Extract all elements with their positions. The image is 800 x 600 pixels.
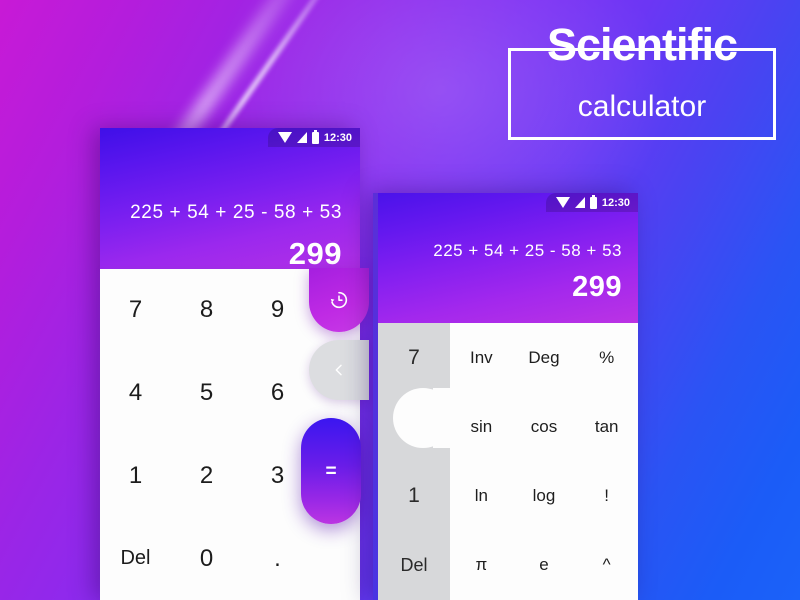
key-4[interactable]: 4	[100, 352, 171, 435]
signal-icon	[575, 197, 585, 208]
wifi-icon	[278, 132, 292, 143]
status-time: 12:30	[324, 132, 352, 144]
key-0[interactable]: 0	[171, 517, 242, 600]
key-delete[interactable]: Del	[100, 517, 171, 600]
key-8[interactable]: 8	[171, 269, 242, 352]
key-pi[interactable]: π	[450, 531, 513, 600]
status-bar: 12:30	[268, 128, 360, 147]
status-bar-scientific: 12:30	[546, 193, 638, 212]
scientific-panel: Inv Deg % sin cos tan ln log ! π e ^	[450, 323, 638, 600]
battery-icon	[590, 197, 597, 209]
key-log[interactable]: log	[513, 462, 576, 531]
key-sin[interactable]: sin	[450, 392, 513, 461]
back-button[interactable]	[309, 340, 369, 400]
equals-label: =	[325, 462, 336, 481]
expression-text: 225 + 54 + 25 - 58 + 53	[378, 241, 622, 261]
key-percent[interactable]: %	[575, 323, 638, 392]
drawer-handle[interactable]	[393, 388, 453, 448]
key-tan[interactable]: tan	[575, 392, 638, 461]
key-5[interactable]: 5	[171, 352, 242, 435]
result-text: 299	[378, 271, 622, 304]
battery-icon	[312, 132, 319, 144]
page-title: Scientific	[508, 14, 776, 76]
key-7[interactable]: 7	[378, 323, 450, 392]
number-keypad: 7 8 9 4 5 6 1 2 3 Del 0 .	[100, 269, 313, 600]
key-power[interactable]: ^	[575, 531, 638, 600]
history-icon	[328, 289, 350, 311]
key-decimal[interactable]: .	[242, 517, 313, 600]
history-button[interactable]	[309, 268, 369, 332]
key-factorial[interactable]: !	[575, 462, 638, 531]
key-ln[interactable]: ln	[450, 462, 513, 531]
key-deg[interactable]: Deg	[513, 323, 576, 392]
key-9[interactable]: 9	[242, 269, 313, 352]
key-inv[interactable]: Inv	[450, 323, 513, 392]
key-2[interactable]: 2	[171, 435, 242, 518]
calculator-display-basic: 12:30 225 + 54 + 25 - 58 + 53 299	[100, 128, 360, 269]
page-subtitle: calculator	[508, 88, 776, 126]
key-1[interactable]: 1	[100, 435, 171, 518]
scientific-keypad-body: 7 1 Del Inv Deg % sin cos tan ln log ! π…	[378, 323, 638, 600]
key-7[interactable]: 7	[100, 269, 171, 352]
key-6[interactable]: 6	[242, 352, 313, 435]
result-text: 299	[100, 236, 342, 269]
signal-icon	[297, 132, 307, 143]
calculator-display-scientific: 12:30 225 + 54 + 25 - 58 + 53 299	[378, 193, 638, 323]
key-e[interactable]: e	[513, 531, 576, 600]
status-time: 12:30	[602, 197, 630, 209]
equals-button[interactable]: =	[301, 418, 361, 524]
scientific-key-grid: Inv Deg % sin cos tan ln log ! π e ^	[450, 323, 638, 600]
expression-text: 225 + 54 + 25 - 58 + 53	[100, 202, 342, 224]
key-delete[interactable]: Del	[378, 531, 450, 600]
key-cos[interactable]: cos	[513, 392, 576, 461]
phone-mockup-scientific: 12:30 225 + 54 + 25 - 58 + 53 299 7 1 De…	[378, 193, 638, 600]
chevron-left-icon	[331, 362, 347, 378]
wifi-icon	[556, 197, 570, 208]
